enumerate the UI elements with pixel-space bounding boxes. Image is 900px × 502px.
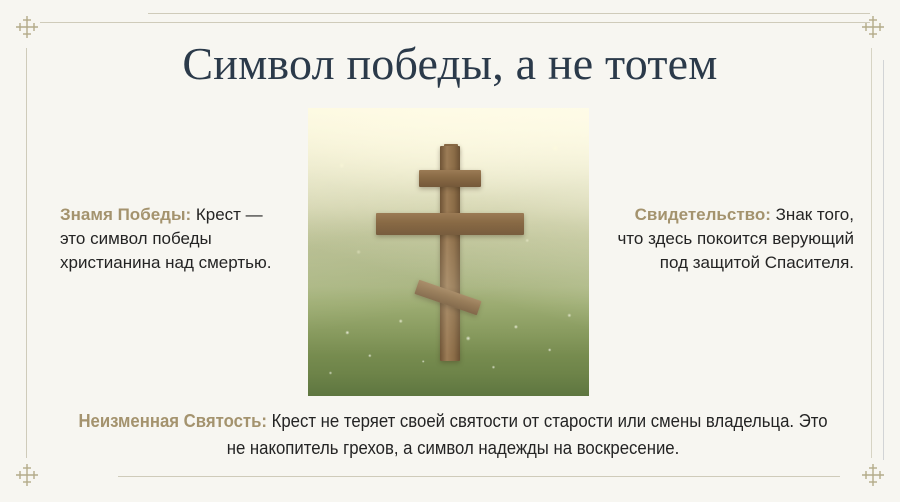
cross-beam-main — [376, 213, 524, 235]
orthodox-cross-icon — [308, 108, 589, 396]
text-block-right: Свидетельство: Знак того, что здесь поко… — [608, 203, 854, 275]
photo-scene — [308, 108, 589, 396]
text-block-right-label: Свидетельство: — [635, 205, 771, 224]
cross-beam-upper — [419, 170, 481, 187]
slide-canvas: Символ победы, а не тотем Знамя Победы: … — [0, 0, 900, 502]
text-block-bottom: Неизменная Святость: Крест не теряет сво… — [78, 408, 828, 462]
cross-ornament-icon — [12, 460, 42, 490]
frame-rule-top-inner — [40, 22, 870, 23]
cross-beam-vertical — [440, 146, 460, 361]
text-block-left: Знамя Победы: Крест — это символ победы … — [60, 203, 292, 275]
text-block-bottom-body: Крест не теряет своей святости от старос… — [227, 411, 828, 458]
frame-rule-left — [26, 48, 27, 458]
frame-rule-bottom — [118, 476, 840, 477]
slide-title: Символ победы, а не тотем — [0, 38, 900, 90]
cross-beam-slanted — [414, 280, 481, 316]
cross-photo — [308, 108, 589, 396]
frame-rule-top-outer — [148, 13, 870, 14]
cross-beam-cap — [444, 144, 458, 154]
frame-rule-right-outer — [871, 48, 872, 458]
text-block-left-label: Знамя Победы: — [60, 205, 191, 224]
frame-rule-right-inner — [883, 60, 884, 460]
cross-ornament-icon — [858, 460, 888, 490]
text-block-bottom-label: Неизменная Святость: — [78, 411, 267, 431]
